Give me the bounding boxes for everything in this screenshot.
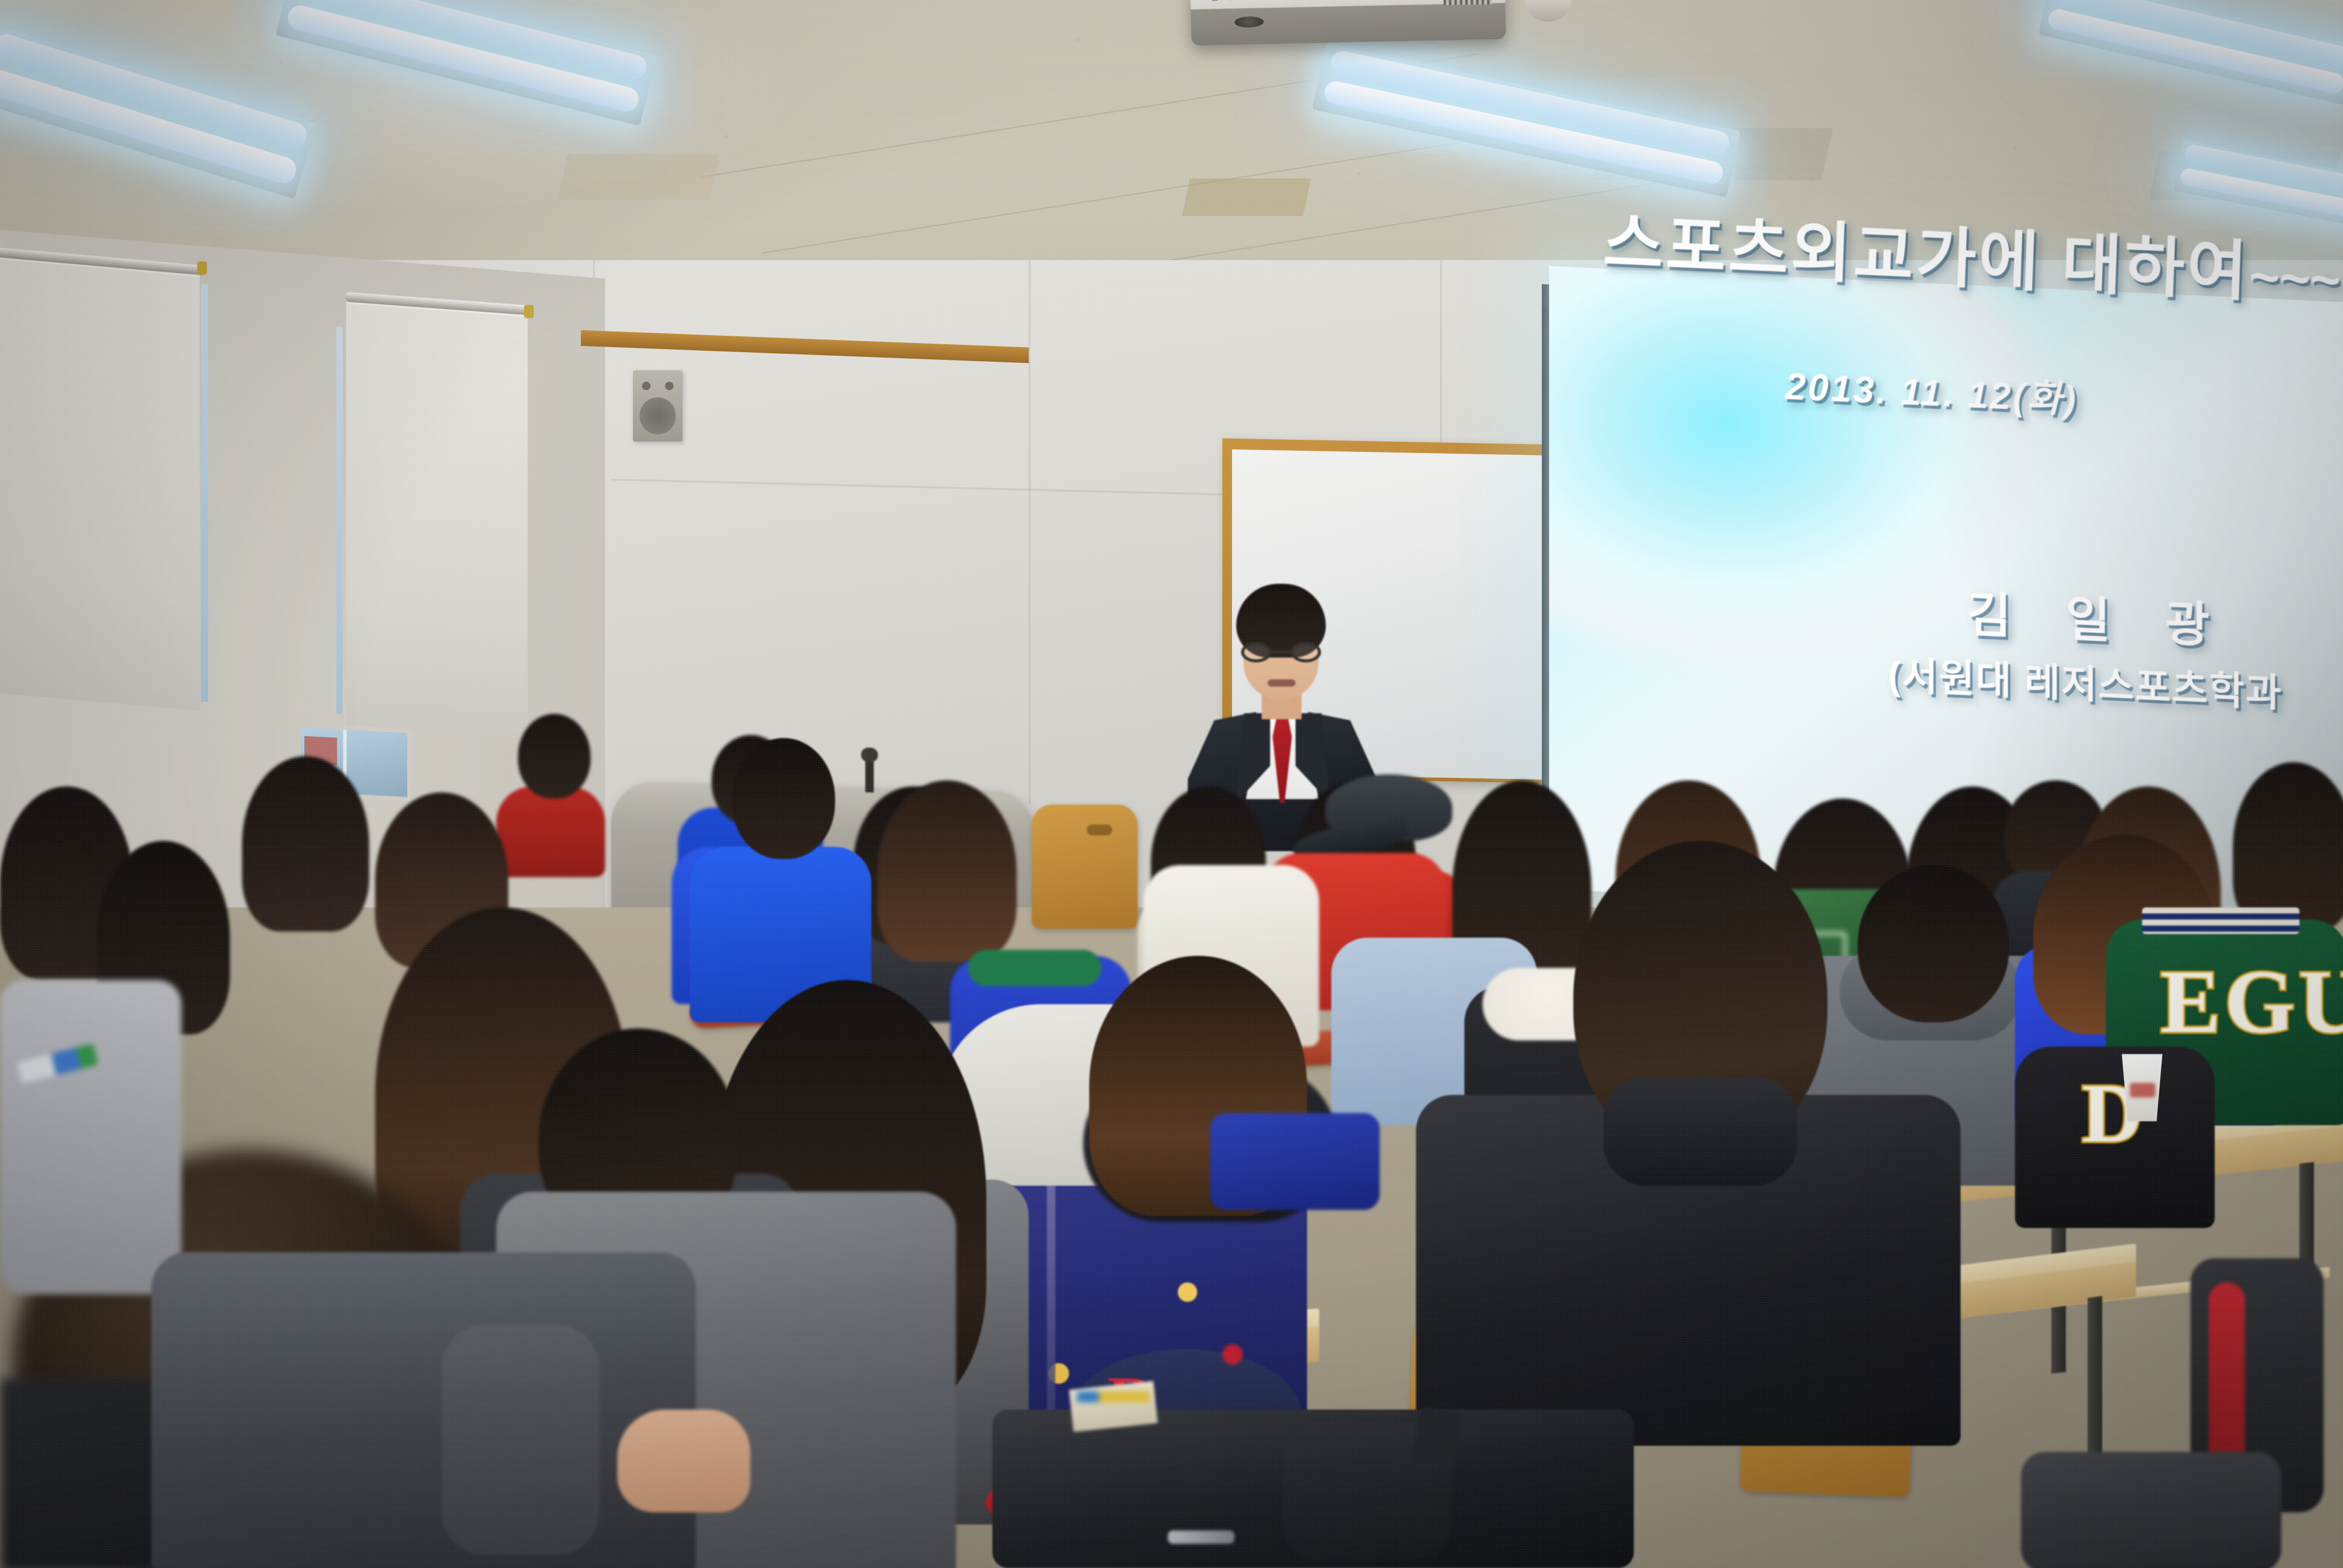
backpack-zipper <box>1168 1530 1234 1544</box>
blind-knob-right[interactable] <box>524 305 534 318</box>
glasses-icon <box>1241 642 1321 662</box>
slide-presenter-name: 김 일 광 <box>1967 575 2230 658</box>
audience-member <box>151 1180 696 1568</box>
lecture-hall-photo: 스포츠외교가에 대하여~~~ 2013. 11. 12(화) 김 일 광 (서원… <box>0 0 2343 1568</box>
ceiling-vent-tile <box>558 154 719 200</box>
audience-member <box>496 714 605 865</box>
ceiling-tile-stain <box>1182 178 1311 216</box>
bag-on-floor <box>2021 1452 2281 1568</box>
window-gap-right <box>336 327 342 714</box>
blind-knob-left[interactable] <box>197 261 207 275</box>
chair-back <box>1032 805 1138 929</box>
projector-icon <box>1190 0 1506 45</box>
paper-sheet <box>1069 1381 1158 1432</box>
slide-date: 2013. 11. 12(화) <box>1785 356 2078 423</box>
window-gap-left <box>201 284 208 702</box>
hand <box>617 1410 750 1512</box>
window-blind-right[interactable] <box>346 302 528 739</box>
audience-member <box>242 756 369 938</box>
speaker-icon <box>633 370 683 442</box>
audience-member <box>1416 841 1961 1446</box>
audience-member <box>690 738 871 1016</box>
cap-button <box>1222 1344 1243 1365</box>
paper-label <box>1077 1391 1150 1402</box>
navy-bag <box>1210 1113 1380 1210</box>
window-blind-left[interactable] <box>0 257 200 711</box>
cup-logo <box>2130 1083 2155 1097</box>
